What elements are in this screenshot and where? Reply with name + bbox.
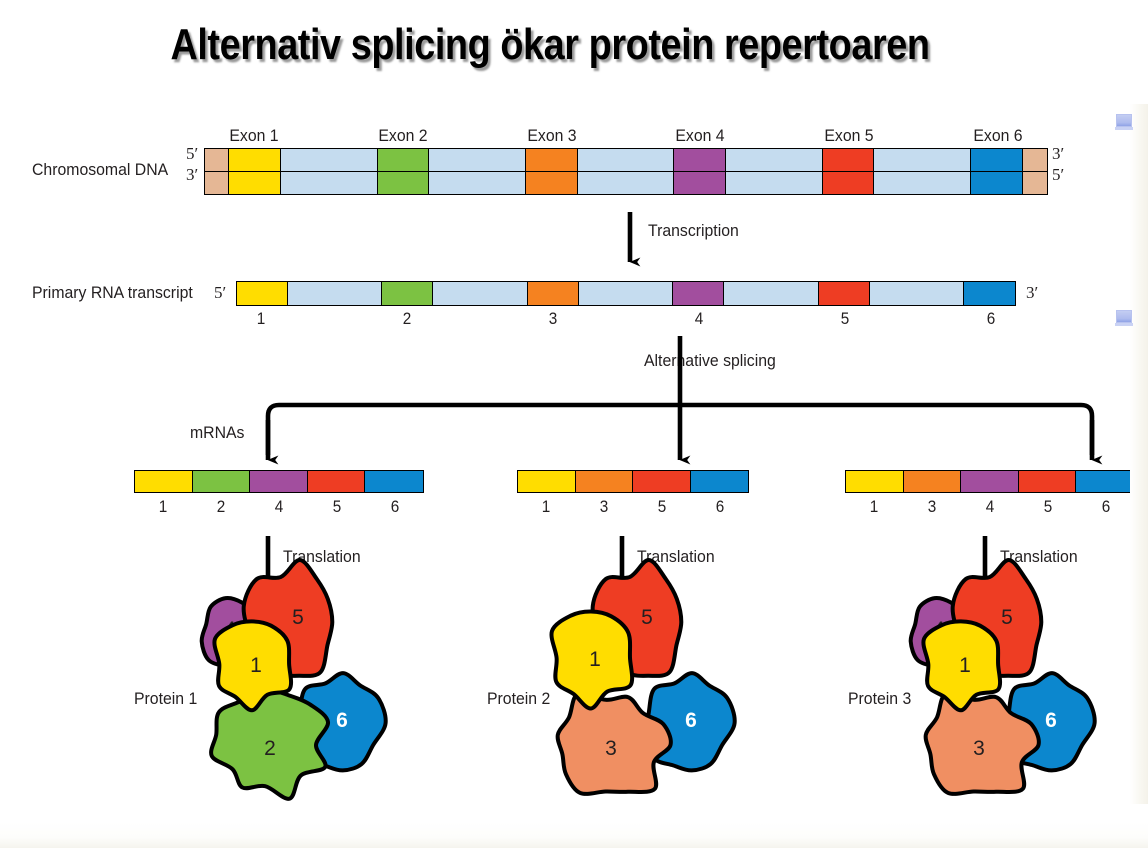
protein-complex-1: 46521: [202, 560, 386, 799]
protein-3-subunit-label-5: 5: [1001, 606, 1013, 629]
protein-2-subunit-label-3: 3: [605, 737, 617, 760]
bottom-edge-fade: [0, 822, 1148, 848]
side-marker-top[interactable]: [1116, 114, 1132, 127]
protein-1-subunit-label-1: 1: [250, 654, 262, 677]
protein-complex-3: 46531: [911, 560, 1095, 794]
protein-2-subunit-1: 1: [551, 611, 632, 708]
protein-complexes: 46521653146531: [0, 0, 1148, 848]
side-marker-bottom[interactable]: [1116, 310, 1132, 323]
protein-3-subunit-label-1: 1: [959, 654, 971, 677]
protein-2-subunit-label-1: 1: [589, 648, 601, 671]
protein-2-subunit-label-5: 5: [641, 606, 653, 629]
slide-canvas: Alternativ splicing ökar protein reperto…: [0, 0, 1148, 848]
right-edge-strip: [1130, 104, 1148, 804]
protein-1-subunit-label-5: 5: [292, 606, 304, 629]
protein-1-subunit-2: 2: [211, 689, 328, 799]
protein-3-subunit-label-3: 3: [973, 737, 985, 760]
protein-3-subunit-label-6: 6: [1045, 709, 1057, 732]
protein-1-subunit-label-2: 2: [264, 737, 276, 760]
protein-complex-2: 6531: [551, 560, 734, 794]
protein-2-subunit-label-6: 6: [685, 709, 697, 732]
protein-1-subunit-label-6: 6: [336, 709, 348, 732]
